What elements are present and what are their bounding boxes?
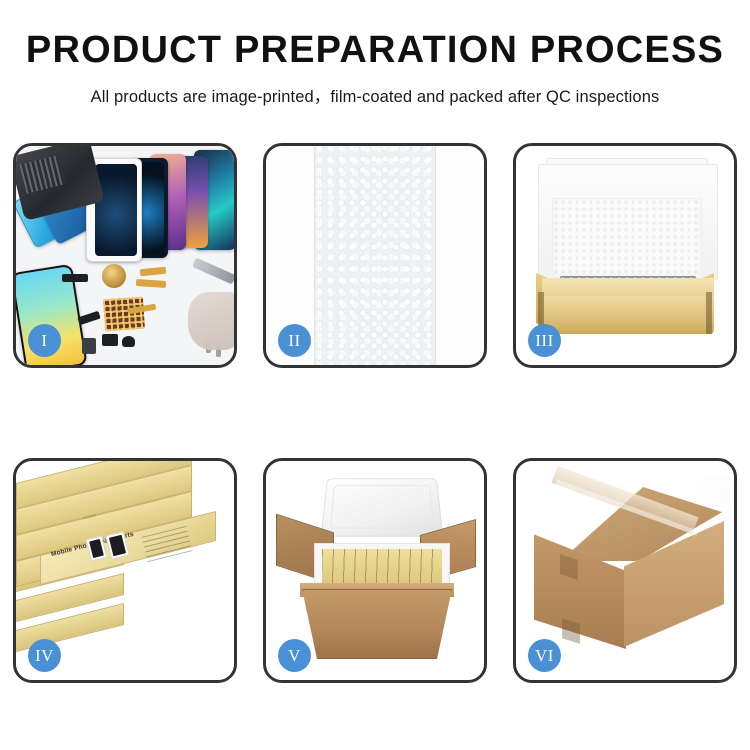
page-subtitle: All products are image-printed，film-coat… <box>0 83 750 107</box>
bubble-wrap-overlay <box>314 146 436 365</box>
step-badge-6: VI <box>528 639 561 672</box>
tray-front <box>542 296 714 334</box>
foam-sheet <box>552 198 702 282</box>
process-step-panel-6[interactable]: VI <box>513 458 737 683</box>
step-badge-1: I <box>28 324 61 357</box>
carton-front <box>302 589 452 659</box>
process-step-grid: I II <box>13 143 737 683</box>
step-badge-4: IV <box>28 639 61 672</box>
page-header: PRODUCT PREPARATION PROCESS All products… <box>0 0 750 107</box>
step-badge-5: V <box>278 639 311 672</box>
foam-cooler-lid <box>321 478 443 536</box>
tray-corner-right <box>706 292 712 334</box>
process-step-panel-4[interactable]: Mobile Phone Spare Parts Mobile Phone Sp… <box>13 458 237 683</box>
connector-part-3 <box>102 334 118 346</box>
step-badge-3: III <box>528 324 561 357</box>
coil-part <box>102 264 126 288</box>
hand <box>188 292 234 350</box>
connector-part-1 <box>62 274 88 282</box>
page-title: PRODUCT PREPARATION PROCESS <box>0 30 750 72</box>
process-step-panel-5[interactable]: V <box>263 458 487 683</box>
process-step-panel-2[interactable]: II <box>263 143 487 368</box>
process-step-panel-1[interactable]: I <box>13 143 237 368</box>
step-badge-2: II <box>278 324 311 357</box>
chip-array-part <box>103 297 145 332</box>
process-step-panel-3[interactable]: III <box>513 143 737 368</box>
connector-part-4 <box>122 336 135 347</box>
connector-part-5 <box>82 338 96 354</box>
